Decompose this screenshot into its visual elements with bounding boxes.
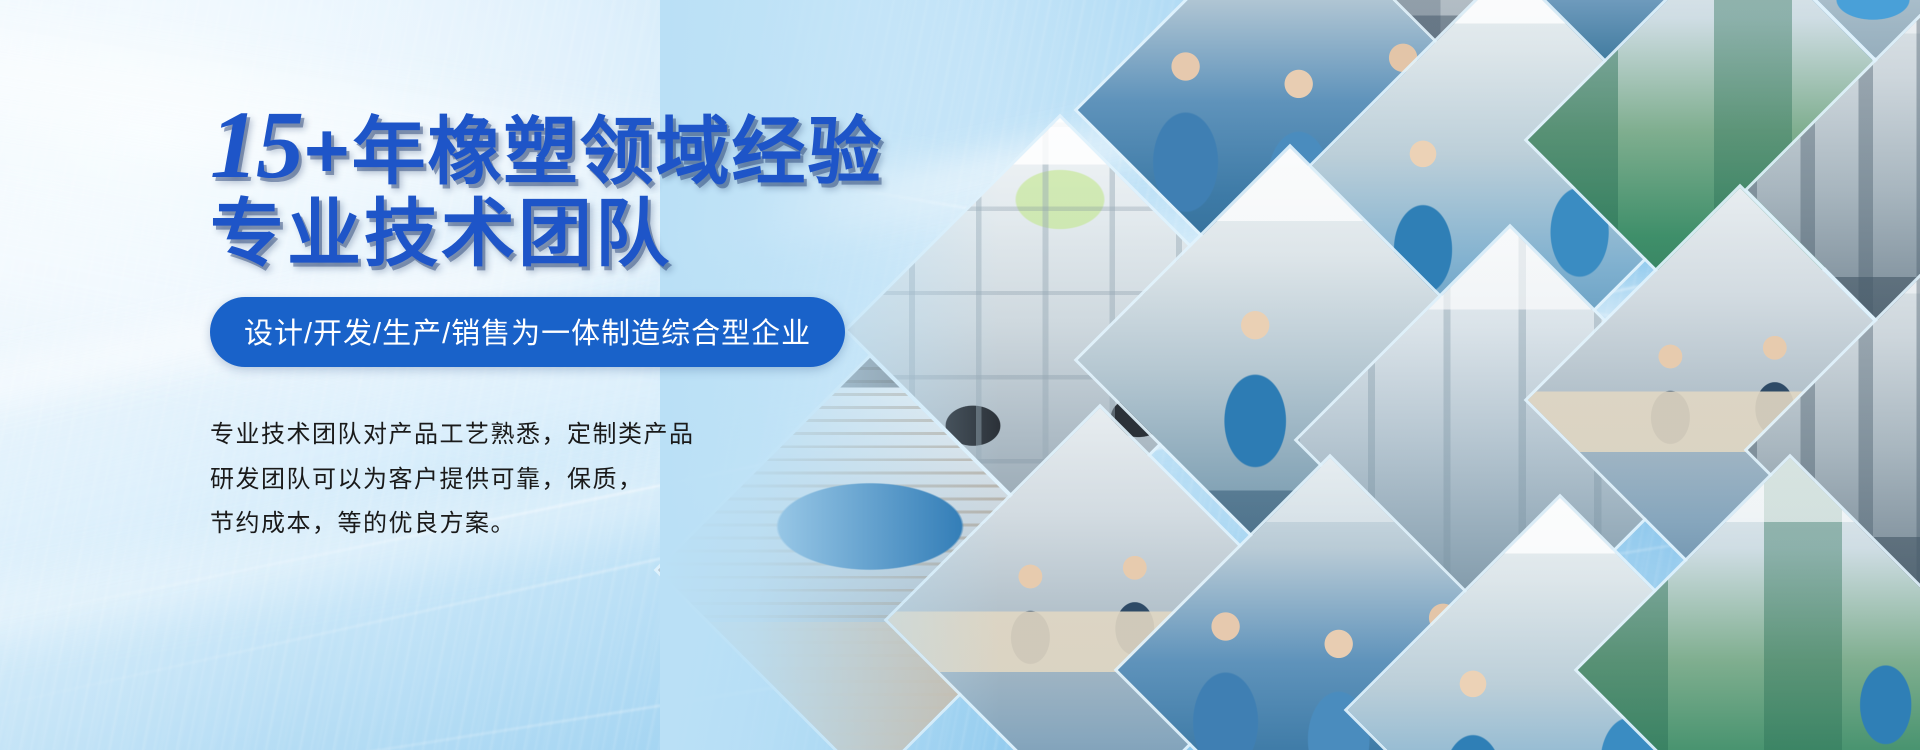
headline-number: 15: [210, 91, 302, 198]
description-line-3: 节约成本，等的优良方案。: [210, 502, 930, 546]
company-hero-banner: 15+年橡塑领域经验 专业技术团队 设计/开发/生产/销售为一体制造综合型企业 …: [0, 0, 1920, 750]
headline-line-1-text: 年橡塑领域经验: [352, 110, 884, 193]
headline-line-1: 15+年橡塑领域经验: [210, 96, 930, 194]
page-title: 15+年橡塑领域经验 专业技术团队: [210, 96, 930, 271]
description-line-1: 专业技术团队对产品工艺熟悉，定制类产品: [210, 413, 930, 457]
headline-line-2: 专业技术团队: [210, 196, 930, 271]
hero-text-block: 15+年橡塑领域经验 专业技术团队 设计/开发/生产/销售为一体制造综合型企业 …: [210, 96, 930, 547]
tagline-badge: 设计/开发/生产/销售为一体制造综合型企业: [210, 297, 845, 367]
headline-plus-symbol: +: [302, 106, 352, 194]
description-paragraph: 专业技术团队对产品工艺熟悉，定制类产品 研发团队可以为客户提供可靠，保质， 节约…: [210, 413, 930, 546]
description-line-2: 研发团队可以为客户提供可靠，保质，: [210, 458, 930, 502]
